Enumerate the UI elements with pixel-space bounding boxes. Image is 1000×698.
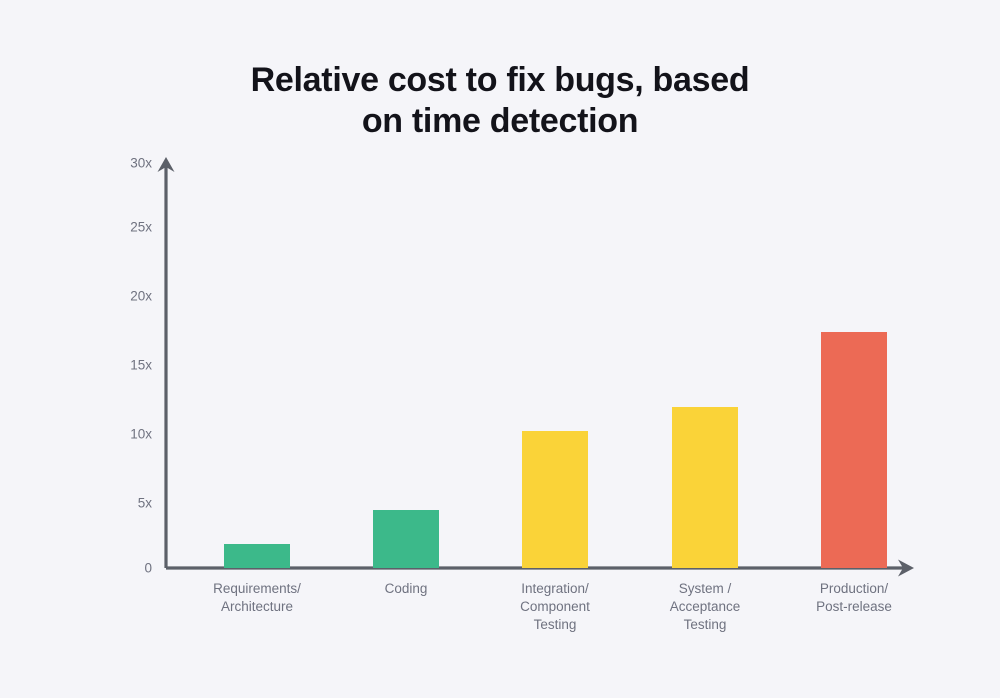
chart-figure: Relative cost to fix bugs, based on time… bbox=[0, 0, 1000, 698]
plot-area: 0 5x 10x 15x 20x 25x 30x bbox=[0, 0, 1000, 698]
bar-rect bbox=[373, 510, 439, 568]
x-category-label-requirements-architecture: Requirements/ Architecture bbox=[177, 580, 337, 616]
bar-rect bbox=[224, 544, 290, 568]
bar-rect bbox=[522, 431, 588, 568]
x-category-label-coding: Coding bbox=[326, 580, 486, 598]
bar-rect bbox=[672, 407, 738, 568]
x-category-label-production-post-release: Production/ Post-release bbox=[774, 580, 934, 616]
x-category-label-integration-component-testing: Integration/ Component Testing bbox=[475, 580, 635, 633]
x-category-label-system-acceptance-testing: System / Acceptance Testing bbox=[625, 580, 785, 633]
bar-rect bbox=[821, 332, 887, 568]
